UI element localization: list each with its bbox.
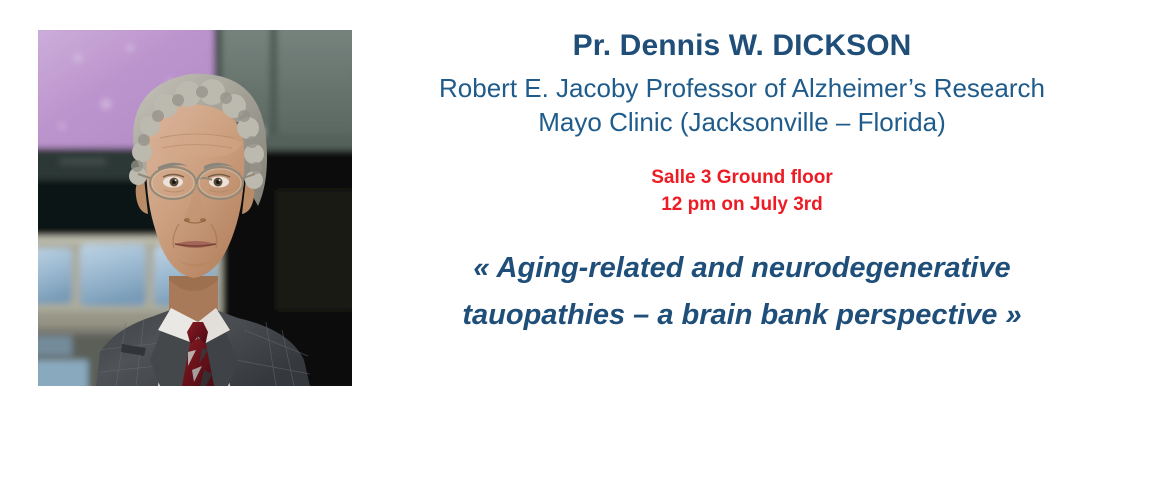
portrait-illustration xyxy=(38,30,352,386)
talk-title-line-2: tauopathies – a brain bank perspective » xyxy=(372,292,1112,339)
speaker-affiliation-line-1: Robert E. Jacoby Professor of Alzheimer’… xyxy=(372,71,1112,105)
venue-location: Salle 3 Ground floor xyxy=(372,165,1112,192)
announcement-text-column: Pr. Dennis W. DICKSON Robert E. Jacoby P… xyxy=(372,28,1112,339)
speaker-announcement-slide: Pr. Dennis W. DICKSON Robert E. Jacoby P… xyxy=(0,0,1158,501)
venue-block: Salle 3 Ground floor 12 pm on July 3rd xyxy=(372,165,1112,219)
talk-title-line-1: « Aging-related and neurodegenerative xyxy=(372,245,1112,292)
venue-datetime: 12 pm on July 3rd xyxy=(372,192,1112,219)
speaker-affiliation-line-2: Mayo Clinic (Jacksonville – Florida) xyxy=(372,105,1112,139)
speaker-name: Pr. Dennis W. DICKSON xyxy=(372,28,1112,65)
talk-title-block: « Aging-related and neurodegenerative ta… xyxy=(372,245,1112,339)
speaker-portrait-photo xyxy=(38,30,352,386)
